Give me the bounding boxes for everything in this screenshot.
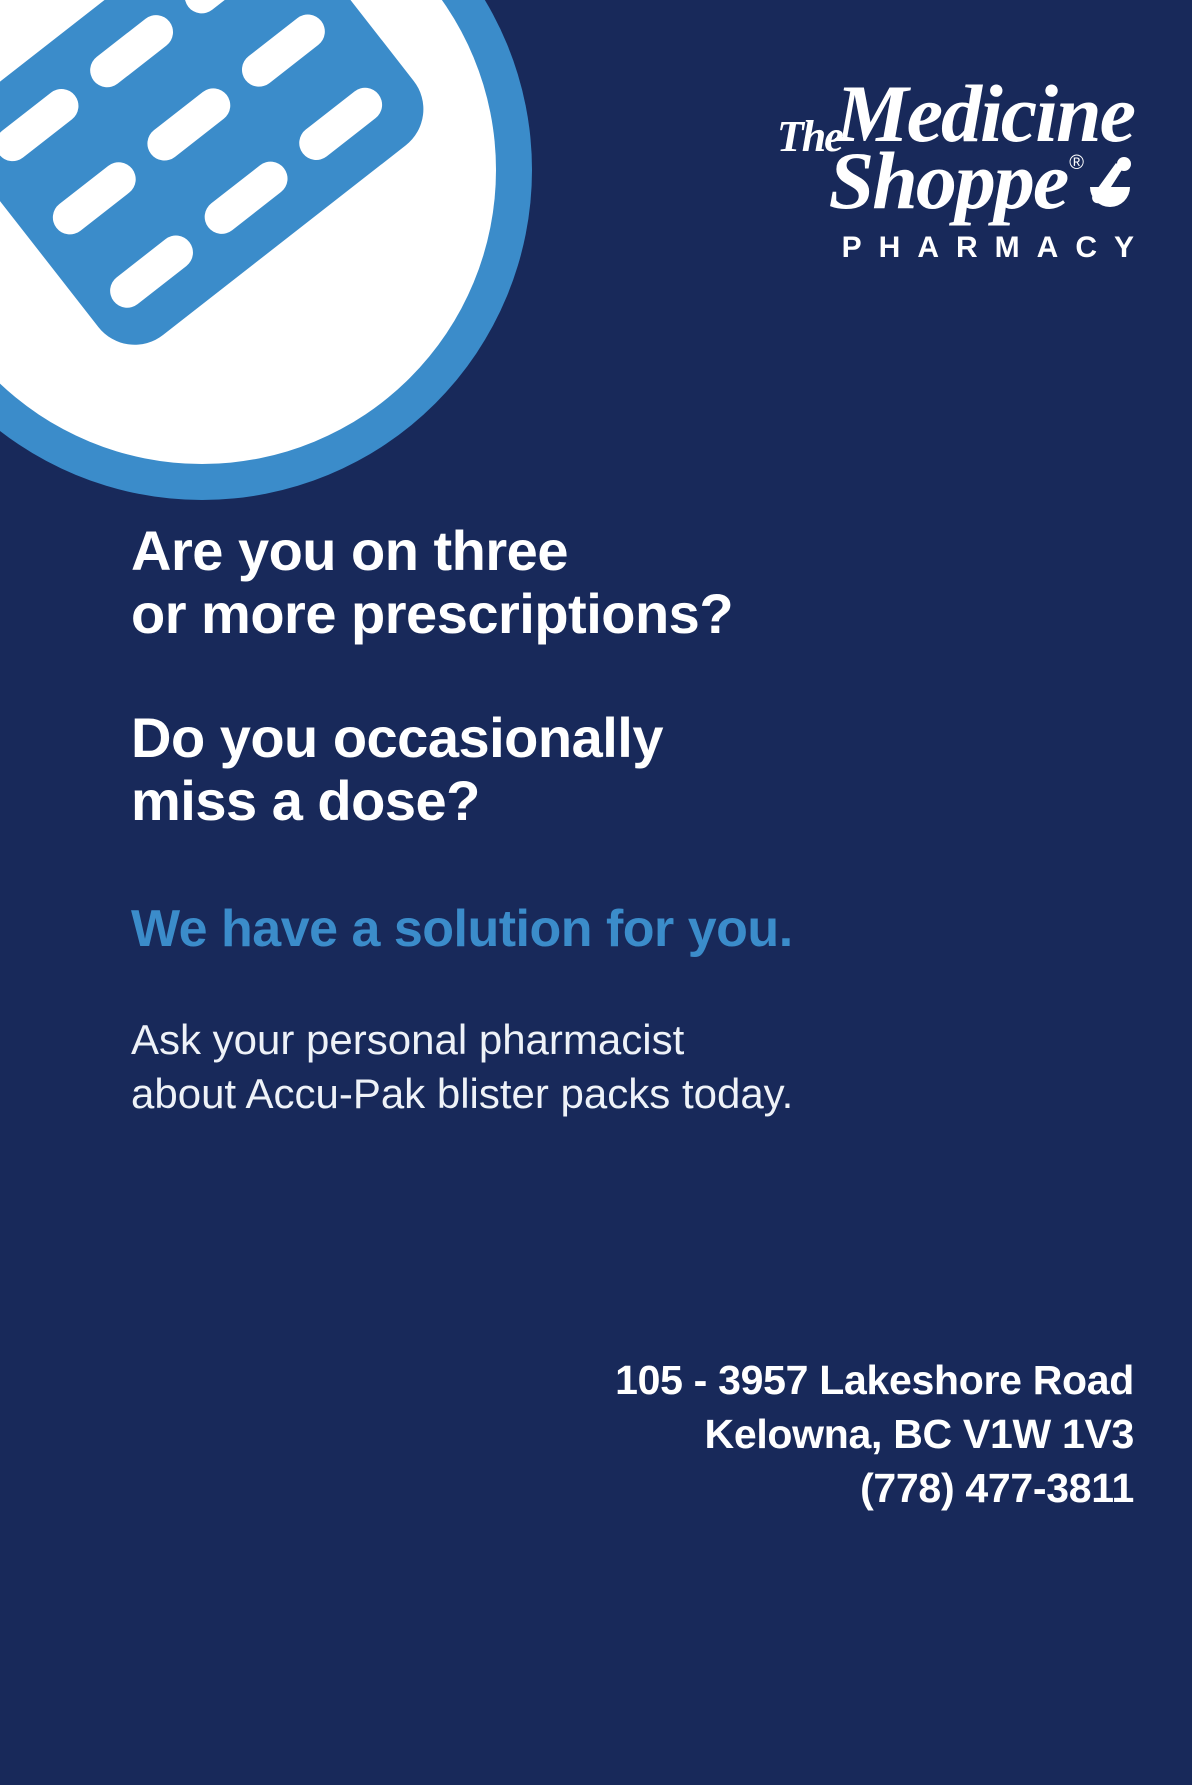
headline-prescriptions: Are you on three or more prescriptions? [131, 520, 1134, 645]
contact-city-province-postal: Kelowna, BC V1W 1V3 [615, 1407, 1134, 1461]
contact-block: 105 - 3957 Lakeshore Road Kelowna, BC V1… [615, 1353, 1134, 1515]
contact-street: 105 - 3957 Lakeshore Road [615, 1353, 1134, 1407]
subcopy-line: Ask your personal pharmacist [131, 1013, 1134, 1067]
wordmark-shoppe: Shoppe [829, 143, 1068, 218]
poster-root: The Medicine Shoppe ® PHARMACY Are you o… [0, 0, 1192, 1785]
contact-phone[interactable]: (778) 477-3811 [615, 1461, 1134, 1515]
brand-badge [0, 0, 532, 500]
headline-line: miss a dose? [131, 770, 1134, 833]
subcopy-line: about Accu-Pak blister packs today. [131, 1067, 1134, 1121]
solution-statement: We have a solution for you. [131, 899, 1134, 959]
headline-miss-dose: Do you occasionally miss a dose? [131, 707, 1134, 832]
headline-line: Are you on three [131, 520, 1134, 583]
registered-trademark-icon: ® [1069, 152, 1084, 175]
headline-line: Do you occasionally [131, 707, 1134, 770]
wordmark-the: The [777, 117, 842, 157]
brand-wordmark: The Medicine Shoppe ® PHARMACY [714, 76, 1134, 265]
subcopy: Ask your personal pharmacist about Accu-… [131, 1013, 1134, 1121]
wordmark-pharmacy: PHARMACY [714, 231, 1151, 265]
mortar-and-pestle-icon [1086, 157, 1134, 215]
main-copy: Are you on three or more prescriptions? … [131, 520, 1134, 1120]
headline-line: or more prescriptions? [131, 583, 1134, 646]
